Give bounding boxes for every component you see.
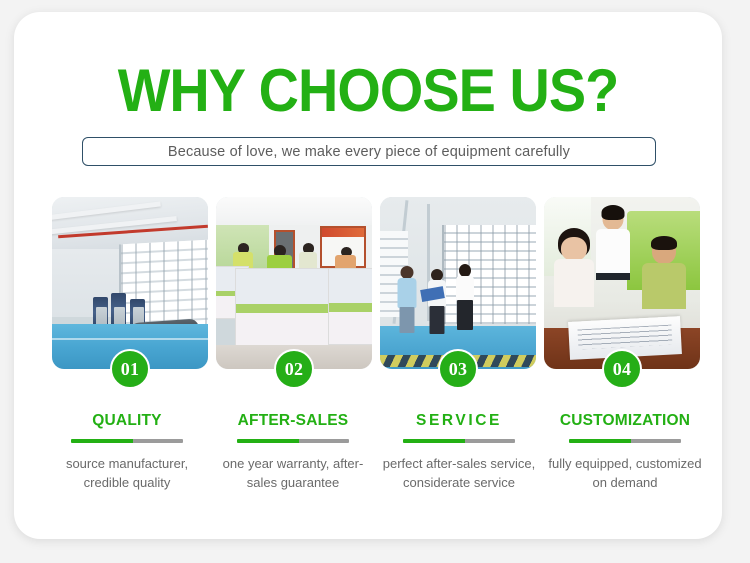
partition-glass — [236, 269, 333, 306]
person-staff — [452, 264, 479, 355]
person-legs — [399, 307, 414, 333]
divider-gray-segment — [133, 439, 183, 443]
person-legs — [457, 300, 473, 330]
floor-marking-line — [52, 338, 208, 340]
feature-title-customization: CUSTOMIZATION — [546, 412, 704, 430]
blueprint-drawing — [568, 316, 682, 360]
person-hair — [651, 236, 677, 250]
person-engineer — [424, 269, 451, 355]
feature-divider — [403, 439, 515, 443]
subtitle-box: Because of love, we make every piece of … — [82, 137, 656, 166]
board-header-banner — [322, 228, 364, 237]
divider-green-segment — [237, 439, 299, 443]
partition-green-stripe — [236, 304, 333, 313]
divider-gray-segment — [631, 439, 681, 443]
feature-photo-4 — [544, 197, 700, 369]
divider-green-segment — [71, 439, 133, 443]
person-face — [561, 237, 587, 261]
person-torso — [642, 263, 686, 309]
feature-column-service: SERVICE perfect after-sales service, con… — [376, 412, 542, 492]
subtitle-text: Because of love, we make every piece of … — [168, 144, 570, 160]
page-title: WHY CHOOSE US? — [39, 60, 697, 122]
divider-gray-segment — [299, 439, 349, 443]
feature-photo-1 — [52, 197, 208, 369]
photo-row — [52, 197, 700, 369]
page-root: WHY CHOOSE US? Because of love, we make … — [0, 0, 750, 563]
cubicle-partition — [235, 268, 334, 347]
divider-green-segment — [569, 439, 631, 443]
feature-divider — [569, 439, 681, 443]
feature-photo-2 — [216, 197, 372, 369]
why-choose-us-card: WHY CHOOSE US? Because of love, we make … — [14, 12, 722, 539]
person-belt — [596, 273, 630, 280]
feature-divider — [237, 439, 349, 443]
cubicle-partition — [328, 268, 372, 346]
person-torso — [554, 259, 594, 307]
person-legs — [429, 306, 444, 334]
hazard-stripe-marking — [380, 355, 536, 367]
office-floor — [216, 345, 372, 369]
partition-glass — [329, 269, 372, 305]
feature-text-row: QUALITY source manufacturer, credible qu… — [44, 412, 708, 492]
divider-green-segment — [403, 439, 465, 443]
feature-photo-3 — [380, 197, 536, 369]
feature-column-quality: QUALITY source manufacturer, credible qu… — [44, 412, 210, 492]
person-male-center — [591, 207, 635, 307]
feature-description-quality: source manufacturer, credible quality — [48, 454, 206, 492]
feature-title-service: SERVICE — [380, 412, 538, 430]
divider-gray-segment — [465, 439, 515, 443]
feature-title-after-sales: AFTER-SALES — [214, 412, 372, 430]
person-torso — [456, 276, 474, 301]
person-torso — [397, 278, 416, 308]
feature-column-after-sales: AFTER-SALES one year warranty, after-sal… — [210, 412, 376, 492]
partition-green-stripe — [329, 303, 372, 311]
blue-epoxy-floor — [52, 324, 208, 369]
feature-column-customization: CUSTOMIZATION fully equipped, customized… — [542, 412, 708, 492]
feature-divider — [71, 439, 183, 443]
feature-description-after-sales: one year warranty, after-sales guarantee — [214, 454, 372, 492]
feature-description-service: perfect after-sales service, considerate… — [380, 454, 538, 492]
person-torso — [596, 229, 630, 279]
person-hair — [601, 205, 624, 220]
person-visitor — [392, 266, 420, 355]
feature-description-customization: fully equipped, customized on demand — [546, 454, 704, 492]
feature-title-quality: QUALITY — [48, 412, 206, 430]
person-torso — [299, 252, 318, 267]
